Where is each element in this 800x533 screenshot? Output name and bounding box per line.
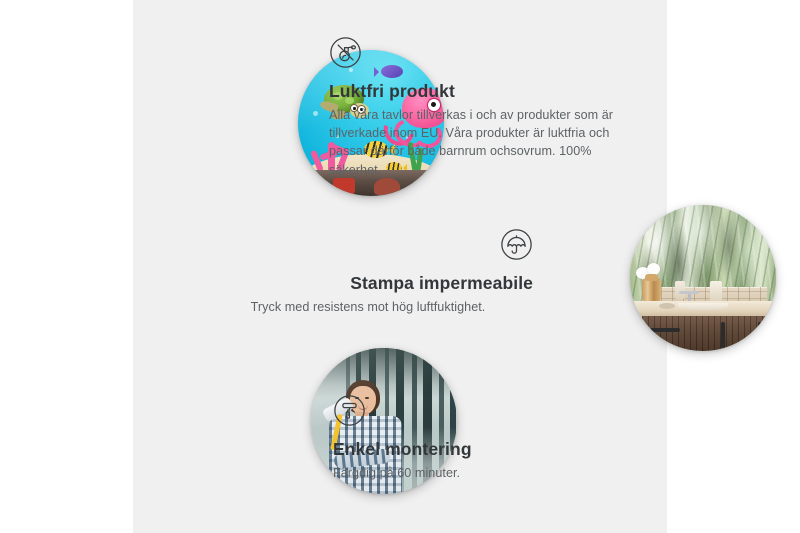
- feature-description: Alla våra tavlor tillverkas i och av pro…: [329, 106, 633, 179]
- cabinet-handle-right: [758, 322, 762, 348]
- drawer-handle: [650, 328, 680, 332]
- bathroom-scene: [630, 205, 776, 351]
- faucet: [688, 293, 691, 302]
- feature-block-odourless: Luktfri produkt Alla våra tavlor tillver…: [329, 36, 633, 179]
- cabinet-handle-left: [721, 322, 725, 348]
- towel: [675, 281, 685, 299]
- no-fragrance-spray-bottle-icon: [329, 36, 362, 69]
- soap-bottle: [710, 281, 722, 302]
- feature-title: Stampa impermeabile: [203, 273, 533, 293]
- feature-image-waterproof: [630, 205, 776, 351]
- feature-description: Tryck med resistens mot hög luftfuktighe…: [203, 298, 533, 316]
- vanity-cabinet: [642, 316, 776, 351]
- soap-dish: [659, 303, 675, 309]
- feature-title: Luktfri produkt: [329, 81, 633, 101]
- umbrella-icon: [500, 228, 533, 261]
- paint-roller-icon: [333, 394, 366, 427]
- feature-block-easy-mounting: Enkel montering Färgdig på 60 minuter.: [333, 394, 633, 482]
- feature-block-waterproof: Stampa impermeabile Tryck med resistens …: [203, 228, 533, 316]
- infographic-canvas: Luktfri produkt Alla våra tavlor tillver…: [133, 0, 667, 533]
- product-feature-infographic: Luktfri produkt Alla våra tavlor tillver…: [0, 0, 800, 533]
- feature-title: Enkel montering: [333, 439, 633, 459]
- feature-description: Färgdig på 60 minuter.: [333, 464, 633, 482]
